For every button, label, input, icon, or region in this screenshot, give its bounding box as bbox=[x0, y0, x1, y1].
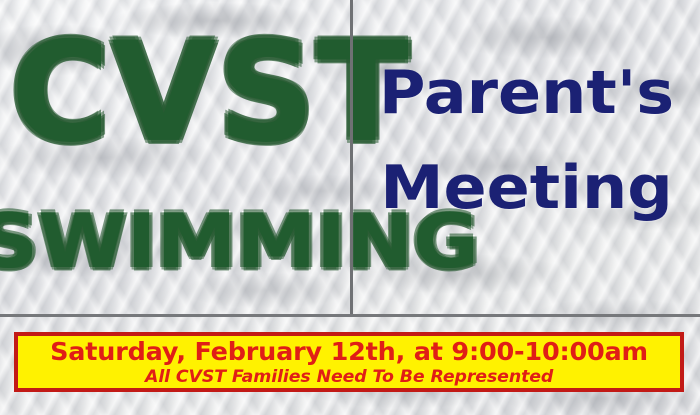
horizontal-divider bbox=[0, 314, 700, 317]
headline-panel: Parent's Meeting bbox=[353, 0, 700, 314]
headline-line-2: Meeting bbox=[343, 155, 700, 221]
event-details-banner: Saturday, February 12th, at 9:00-10:00am… bbox=[14, 332, 684, 392]
headline-line-1: Parent's bbox=[343, 60, 700, 126]
sport-name-text: SWIMMING bbox=[0, 201, 370, 285]
event-attendance-note: All CVST Families Need To Be Represented bbox=[145, 367, 553, 387]
swim-team-meeting-flyer: CVST SWIMMING Parent's Meeting Saturday,… bbox=[0, 0, 700, 415]
team-logo-panel: CVST SWIMMING bbox=[0, 0, 350, 314]
team-name-text: CVST bbox=[11, 15, 339, 171]
event-datetime-text: Saturday, February 12th, at 9:00-10:00am bbox=[50, 338, 648, 366]
